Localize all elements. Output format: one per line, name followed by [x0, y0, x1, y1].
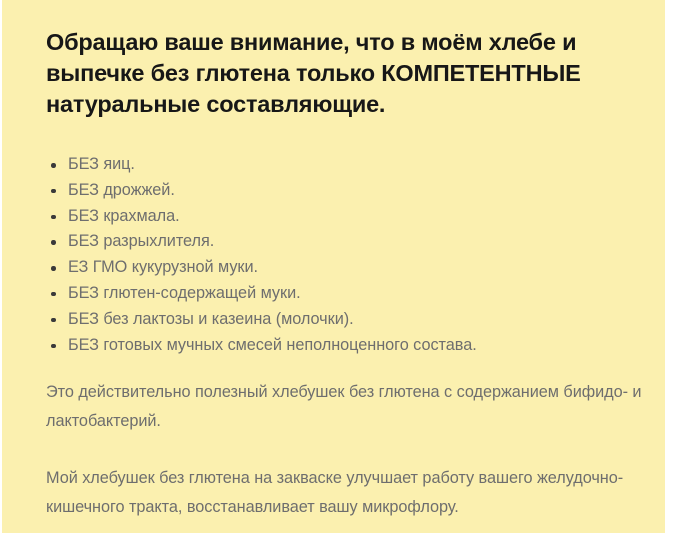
list-item-label: БЕЗ дрожжей. — [68, 181, 175, 199]
list-item-label: БЕЗ крахмала. — [68, 207, 180, 225]
list-item: БЕЗ глютен-содержащей муки. — [46, 281, 636, 307]
list-item-label: БЕЗ разрыхлителя. — [68, 232, 214, 250]
note-card: Обращаю ваше внимание, что в моём хлебе … — [2, 0, 665, 533]
body-paragraph-benefits: Это действительно полезный хлебушек без … — [46, 378, 646, 436]
list-item-label: БЕЗ готовых мучных смесей неполноценного… — [68, 336, 477, 354]
list-item: БЕЗ крахмала. — [46, 204, 636, 230]
ingredient-exclusion-list: БЕЗ яиц. БЕЗ дрожжей. БЕЗ крахмала. БЕЗ … — [46, 152, 636, 358]
list-item: БЕЗ разрыхлителя. — [46, 229, 636, 255]
body-paragraph-digestion: Мой хлебушек без глютена на закваске улу… — [46, 464, 646, 522]
list-item: БЕЗ яиц. — [46, 152, 636, 178]
list-item-label: БЕЗ без лактозы и казеина (молочки). — [68, 310, 354, 328]
page-title: Обращаю ваше внимание, что в моём хлебе … — [46, 27, 646, 120]
list-item-label: БЕЗ яиц. — [68, 155, 135, 173]
list-item: ЕЗ ГМО кукурузной муки. — [46, 255, 636, 281]
list-item: БЕЗ без лактозы и казеина (молочки). — [46, 307, 636, 333]
list-item-label: БЕЗ глютен-содержащей муки. — [68, 284, 301, 302]
list-item: БЕЗ готовых мучных смесей неполноценного… — [46, 333, 636, 359]
list-item-label: ЕЗ ГМО кукурузной муки. — [68, 258, 258, 276]
list-item: БЕЗ дрожжей. — [46, 178, 636, 204]
